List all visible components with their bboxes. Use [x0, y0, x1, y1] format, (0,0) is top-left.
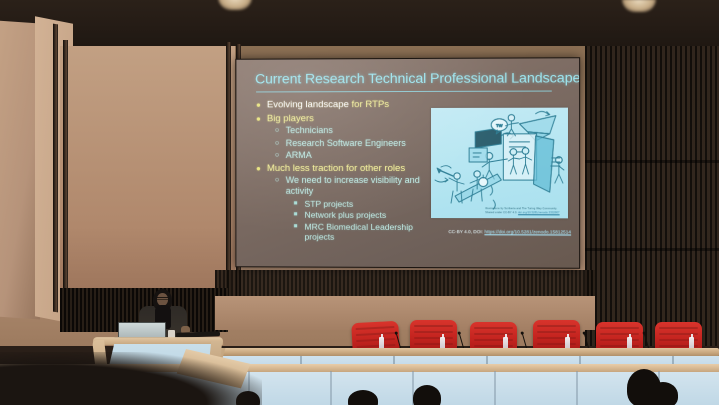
bullet-text: Evolving landscape for RTPs [267, 99, 445, 111]
slide-title: Current Research Technical Professional … [255, 70, 565, 87]
bullet-marker: ■ [294, 210, 305, 220]
bullet-marker: ○ [275, 126, 286, 136]
bullet-marker: ○ [275, 175, 286, 185]
slat-seam-1 [585, 160, 719, 163]
bullet-text: STP projects [305, 198, 446, 209]
slide-title-underline [256, 91, 552, 93]
bullet-text: Research Software Engineers [286, 137, 445, 148]
audience-head [413, 385, 441, 405]
doi-link[interactable]: https://doi.org/10.5281/zenodo.15812514 [484, 229, 571, 234]
bullet-marker: ● [256, 99, 267, 111]
wall-mullion-2 [63, 40, 68, 308]
audience-shoulder [648, 382, 678, 405]
bullet-text: Network plus projects [305, 210, 446, 221]
license-label: CC-BY 4.0, DOI: [448, 229, 484, 234]
lectern-laptop [118, 322, 166, 338]
slide-illustration: TW [431, 108, 568, 219]
bullet-text: Technicians [286, 125, 445, 136]
presentation-slide: Current Research Technical Professional … [236, 58, 579, 268]
bullet-item: ○ ARMA [256, 150, 445, 161]
bullet-text: We need to increase visibility and activ… [286, 175, 445, 197]
illustration-caption: Illustrations by Scriberia and The Turin… [485, 207, 566, 214]
wall-panel-center [60, 46, 235, 304]
slat-seam-2 [585, 248, 719, 251]
bullet-item: ■ Network plus projects [256, 210, 445, 221]
wall-mullion-1 [53, 24, 58, 313]
bullet-item: ■ STP projects [256, 198, 445, 209]
bullet-text: ARMA [286, 150, 445, 161]
bullet-item: ● Much less traction for other roles [256, 163, 445, 175]
panel-chair [533, 320, 580, 351]
bullet-highlight: Evolving landscape [267, 99, 349, 110]
svg-text:TW: TW [496, 123, 502, 128]
ceiling [0, 0, 719, 52]
bullet-marker: ○ [275, 138, 286, 148]
bullet-marker: ■ [294, 198, 305, 208]
bullet-marker: ■ [294, 221, 305, 231]
bullet-item: ○ Research Software Engineers [256, 137, 445, 148]
wall-panel-far-left [0, 20, 40, 319]
conference-photo: Current Research Technical Professional … [0, 0, 719, 405]
foreground-shadow [0, 352, 262, 405]
projection-screen: Current Research Technical Professional … [235, 57, 580, 269]
barrier-seam [576, 371, 578, 405]
bullet-marker: ○ [275, 150, 286, 160]
bullet-item: ○ We need to increase visibility and act… [256, 175, 445, 197]
illustration-artwork: TW [431, 108, 568, 219]
bullet-text: Much less traction for other roles [267, 163, 445, 175]
slide-bullet-list: ● Evolving landscape for RTPs ● Big play… [256, 97, 445, 243]
bullet-marker: ● [256, 163, 267, 175]
bullet-item: ● Evolving landscape for RTPs [256, 99, 445, 111]
barrier-seam [330, 371, 332, 405]
bullet-marker: ● [256, 113, 267, 125]
slide-attribution: CC-BY 4.0, DOI: https://doi.org/10.5281/… [395, 229, 571, 235]
illustration-caption-link[interactable]: doi.org/10.5281/zenodo.3332807 [518, 211, 560, 214]
lectern-surface [93, 337, 223, 345]
bullet-text: Big players [267, 113, 445, 125]
speaker-glasses [157, 297, 168, 300]
barrier-seam [494, 371, 496, 405]
panel-chair [410, 320, 457, 351]
bullet-item: ● Big players [256, 113, 445, 125]
acoustic-slat-wall-right [585, 46, 719, 346]
audience-head [348, 390, 378, 405]
bullet-item: ○ Technicians [256, 125, 445, 136]
